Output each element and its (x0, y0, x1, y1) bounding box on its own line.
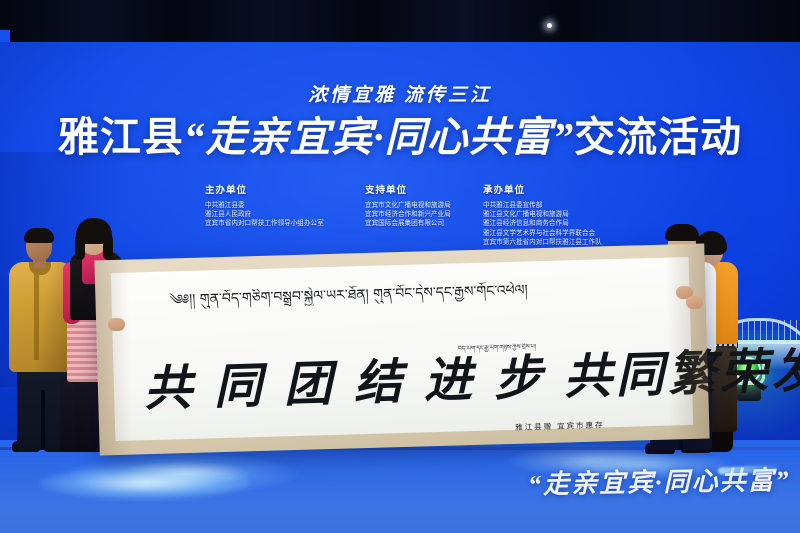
credits-line: 宜宾市文化广播电视和旅游局 (365, 201, 483, 210)
screen-subtitle: 浓情宜雅 流传三江 (0, 80, 800, 107)
floor-light-pool-left (40, 466, 250, 500)
scroll-fold-left (94, 260, 133, 456)
credits-line: 中共雅江县委宣传部 (483, 201, 673, 210)
credits-line: 宜宾市经济合作和新兴产业局 (365, 210, 483, 219)
calligraphy-scroll: ༄༅།། གུན་བོད་གཅིག་བསྒྲུབ་སྐྱེལ་ཡར་ཐོན། ག… (94, 244, 709, 456)
title-quote-open: “ (184, 114, 206, 160)
robe-placket (34, 272, 39, 360)
credits-line: 雅江县文化广播电视和旅游局 (483, 210, 673, 219)
credits-line: 雅江县文学艺术界与社会科学界联合会 (483, 229, 673, 238)
credits-heading: 承办单位 (483, 182, 673, 196)
credits-column-support: 支持单位 宜宾市文化广播电视和旅游局 宜宾市经济合作和新兴产业局 宜宾国际会展集… (365, 182, 483, 247)
credits-column-organizer: 承办单位 中共雅江县委宣传部 雅江县文化广播电视和旅游局 雅江县经济信息和商务合… (483, 182, 673, 247)
screen-main-title: 雅江县“走亲宜宾·同心共富”交流活动 (0, 112, 800, 162)
title-calligraphy: 走亲宜宾·同心共富 (205, 114, 552, 160)
ceiling-truss-band (0, 0, 800, 45)
hair (24, 228, 54, 243)
title-quote-close: ” (553, 114, 575, 160)
credits-line: 雅江县经济信息和商务合作局 (483, 219, 673, 228)
hand-gripping-scroll-left (108, 318, 125, 331)
credits-line: 宜宾市省内对口帮扶工作领导小组办公室 (205, 219, 365, 228)
credits-line: 雅江县人民政府 (205, 210, 365, 219)
trouser-seam (41, 390, 45, 450)
credits-block: 主办单位 中共雅江县委 雅江县人民政府 宜宾市省内对口帮扶工作领导小组办公室 支… (205, 182, 675, 247)
credits-heading: 主办单位 (205, 182, 365, 196)
scroll-chinese-calligraphy: 共同团结进步共同繁荣发展 (143, 345, 684, 420)
credits-column-host: 主办单位 中共雅江县委 雅江县人民政府 宜宾市省内对口帮扶工作领导小组办公室 (205, 182, 365, 247)
credits-line: 中共雅江县委 (205, 201, 365, 210)
hair-side-left (75, 234, 85, 260)
hair-side-right (103, 234, 113, 260)
credits-heading: 支持单位 (365, 182, 483, 196)
credits-line: 宜宾国际会展集团有限公司 (365, 219, 483, 228)
scroll-chinese-first-phrase: 共同团结进步 (143, 352, 564, 417)
title-prefix: 雅江县 (58, 114, 184, 160)
scroll-signature: 雅江县赠 宜宾市惠存 (515, 419, 605, 432)
stage-event-scene: 浓情宜雅 流传三江 雅江县“走亲宜宾·同心共富”交流活动 主办单位 中共雅江县委… (0, 0, 800, 533)
title-suffix: 交流活动 (574, 114, 742, 160)
ceiling-light-icon (547, 23, 552, 28)
scroll-tibetan-text: ༄༅།། གུན་བོད་གཅིག་བསྒྲུབ་སྐྱེལ་ཡར་ཐོན། ག… (169, 277, 679, 309)
scroll-fold-right (664, 244, 709, 440)
hair (665, 224, 699, 241)
hand-gripping-scroll-right-lower (686, 296, 703, 309)
scroll-paper: ༄༅།། གུན་བོད་གཅིག་བསྒྲུབ་སྐྱེལ་ཡར་ཐོན། ག… (111, 257, 693, 441)
